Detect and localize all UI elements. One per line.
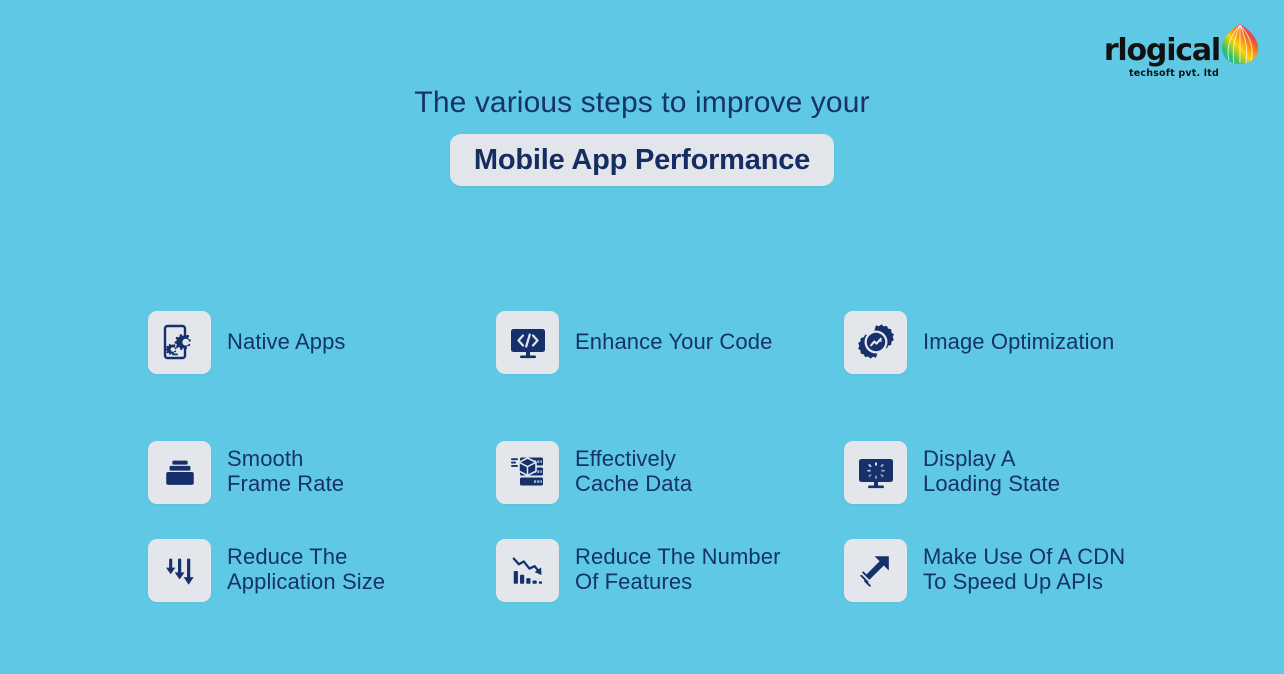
- step-icon-tile: [148, 539, 211, 602]
- step-item: Make Use Of A CDN To Speed Up APIs: [844, 537, 1158, 603]
- brand-tagline: techsoft pvt. ltd: [1129, 69, 1219, 79]
- step-icon-tile: [844, 441, 907, 504]
- brand-name: rlogical: [1104, 36, 1220, 66]
- headline-badge: Mobile App Performance: [450, 134, 834, 186]
- step-label: Smooth Frame Rate: [227, 447, 344, 496]
- step-item: Display A Loading State: [844, 407, 1158, 537]
- down-arrows-icon: [161, 551, 199, 589]
- declining-bar-chart-icon: [509, 551, 547, 589]
- step-icon-tile: [844, 539, 907, 602]
- step-item: Smooth Frame Rate: [148, 407, 496, 537]
- step-item: Reduce The Number Of Features: [496, 537, 844, 603]
- step-label: Reduce The Number Of Features: [575, 545, 781, 594]
- step-icon-tile: [496, 311, 559, 374]
- step-item: Image Optimization: [844, 277, 1158, 407]
- gear-chart-icon: [856, 322, 896, 362]
- step-label: Make Use Of A CDN To Speed Up APIs: [923, 545, 1125, 594]
- step-icon-tile: [496, 441, 559, 504]
- step-label: Enhance Your Code: [575, 330, 772, 355]
- step-label: Reduce The Application Size: [227, 545, 385, 594]
- step-label: Display A Loading State: [923, 447, 1060, 496]
- code-monitor-icon: [508, 322, 548, 362]
- server-cube-icon: [508, 452, 548, 492]
- brand-logo-text: rlogical techsoft pvt. ltd: [1104, 36, 1220, 79]
- step-item: Reduce The Application Size: [148, 537, 496, 603]
- mobile-gears-icon: [160, 322, 200, 362]
- step-icon-tile: [496, 539, 559, 602]
- step-icon-tile: [148, 311, 211, 374]
- steps-grid: Native Apps Enhance Your Code: [148, 277, 1158, 603]
- step-item: Effectively Cache Data: [496, 407, 844, 537]
- monitor-spinner-icon: [856, 452, 896, 492]
- brand-logo: rlogical techsoft pvt. ltd: [1104, 22, 1260, 78]
- speed-arrow-icon: [857, 551, 895, 589]
- step-icon-tile: [148, 441, 211, 504]
- step-item: Enhance Your Code: [496, 277, 844, 407]
- step-label: Native Apps: [227, 330, 346, 355]
- stacked-layers-icon: [161, 453, 199, 491]
- step-label: Effectively Cache Data: [575, 447, 692, 496]
- step-label: Image Optimization: [923, 330, 1114, 355]
- page-headline: The various steps to improve your: [0, 86, 1284, 120]
- step-item: Native Apps: [148, 277, 496, 407]
- step-icon-tile: [844, 311, 907, 374]
- headline-badge-text: Mobile App Performance: [474, 144, 810, 177]
- rainbow-leaf-icon: [1220, 22, 1260, 66]
